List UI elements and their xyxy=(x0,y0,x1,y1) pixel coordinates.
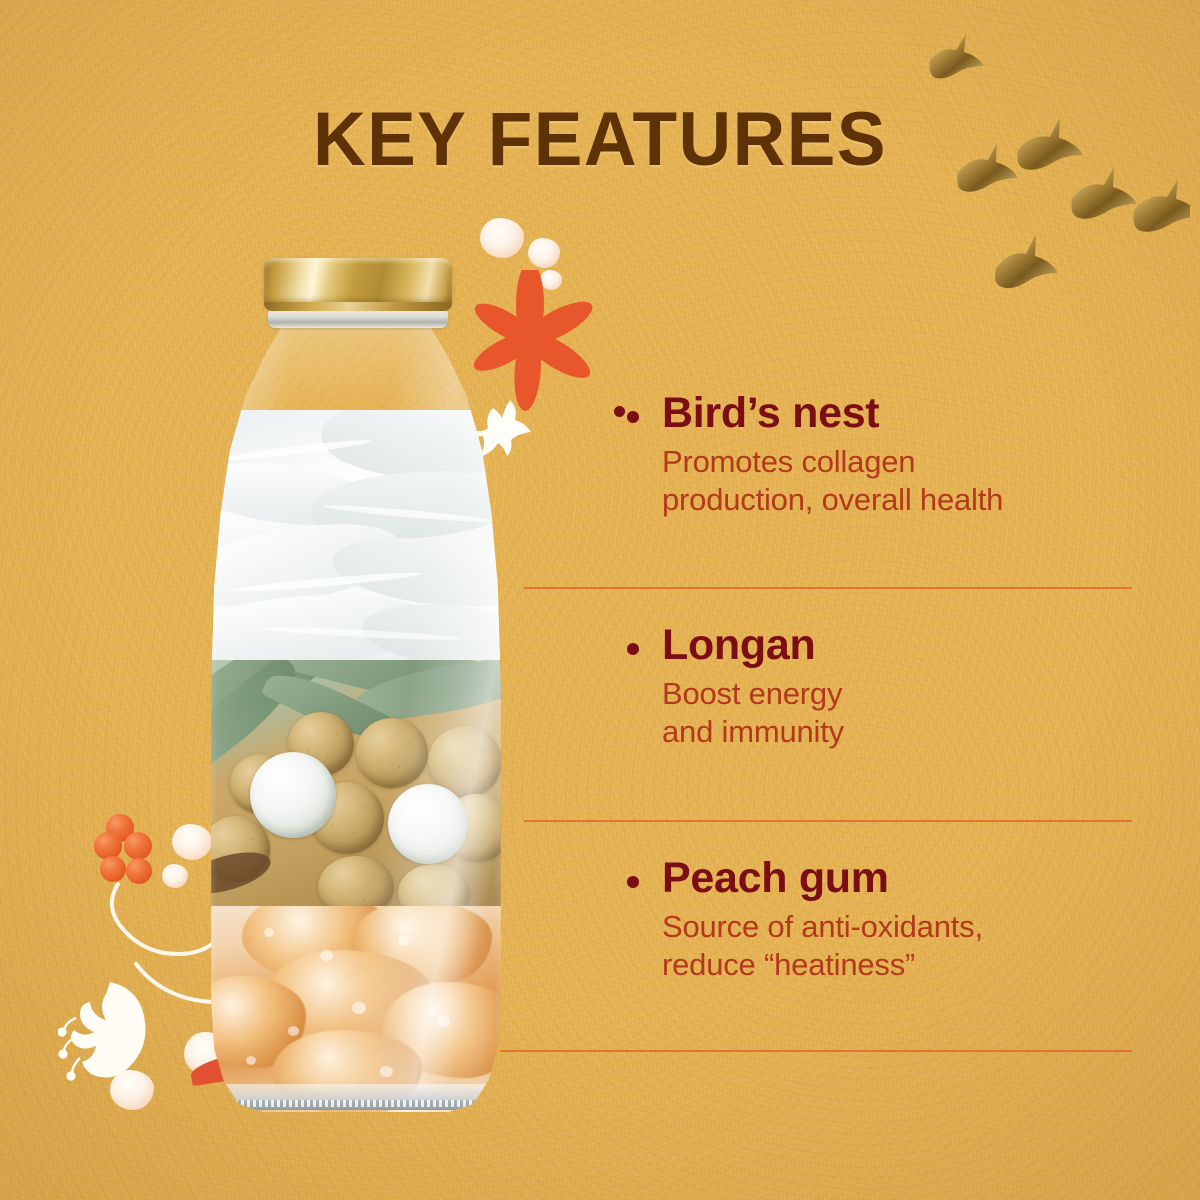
feature-item-peach-gum: Peach gum Source of anti-oxidants, reduc… xyxy=(620,857,1140,985)
bottle-body xyxy=(202,326,510,1112)
cloud-puff xyxy=(108,1016,134,1040)
berry xyxy=(124,832,152,860)
bottle-base-rim xyxy=(212,1084,500,1110)
longan-fruit xyxy=(398,864,470,906)
feature-description-line: production, overall health xyxy=(662,481,1140,519)
feature-description: Promotes collagen production, overall he… xyxy=(620,443,1140,520)
glass-edge-right xyxy=(494,326,510,1112)
feature-heading: Bird’s nest xyxy=(620,392,1140,436)
bird-icon xyxy=(995,234,1058,288)
bullet-icon xyxy=(627,411,639,423)
feature-item-longan: Longan Boost energy and immunity xyxy=(620,624,1140,752)
berry xyxy=(106,814,134,842)
cloud-puff xyxy=(528,238,560,268)
feature-description: Source of anti-oxidants, reduce “heatine… xyxy=(620,908,1140,985)
white-lily-icon xyxy=(58,976,178,1096)
bottle-layer-peach-gum xyxy=(202,906,510,1112)
feature-title: Longan xyxy=(662,621,815,669)
feature-heading: Peach gum xyxy=(620,857,1140,901)
longan-fruit xyxy=(356,718,428,788)
feature-description: Boost energy and immunity xyxy=(620,675,1140,752)
feature-description-line: reduce “heatiness” xyxy=(662,946,1140,984)
bottle-cap xyxy=(264,258,452,306)
feature-description-line: and immunity xyxy=(662,713,1140,751)
feature-title: Bird’s nest xyxy=(662,389,879,437)
bottle-neck-ring xyxy=(268,308,448,328)
feature-divider xyxy=(524,587,1132,589)
feature-title: Peach gum xyxy=(662,854,889,902)
feature-item-birds-nest: Bird’s nest Promotes collagen production… xyxy=(620,392,1140,520)
feature-divider xyxy=(500,1050,1132,1052)
bird-icon xyxy=(930,34,984,78)
bird-icon xyxy=(1133,179,1190,232)
cloud-puff xyxy=(540,270,562,290)
feature-description-line: Boost energy xyxy=(662,675,1140,713)
berry xyxy=(126,858,152,884)
bullet-icon xyxy=(627,876,639,888)
longan-fruit xyxy=(318,856,394,906)
berry xyxy=(94,832,122,860)
feature-divider xyxy=(524,820,1132,822)
bullet-icon xyxy=(627,643,639,655)
bottle-neck-glass xyxy=(202,326,510,418)
feature-description-line: Promotes collagen xyxy=(662,443,1140,481)
feature-description-line: Source of anti-oxidants, xyxy=(662,908,1140,946)
berry xyxy=(100,856,126,882)
glass-edge-left xyxy=(202,326,218,1112)
berry-cluster xyxy=(94,814,164,884)
product-bottle xyxy=(196,252,516,1112)
poster-canvas: KEY FEATURES xyxy=(0,0,1200,1200)
page-title: KEY FEATURES xyxy=(24,96,1176,183)
cloud-puff xyxy=(162,864,188,888)
bottle-layer-longan xyxy=(202,660,510,906)
feature-heading: Longan xyxy=(620,624,1140,668)
cloud-puff xyxy=(110,1070,154,1110)
bottle-layer-bird-nest xyxy=(202,410,510,660)
peeled-longan xyxy=(250,752,336,838)
peeled-longan xyxy=(388,784,468,864)
